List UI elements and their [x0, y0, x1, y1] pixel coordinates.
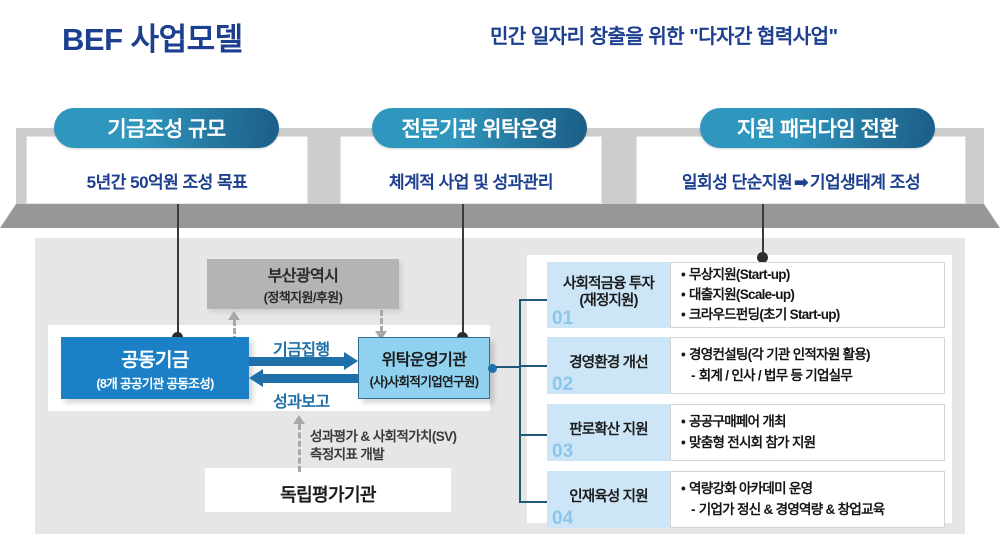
box-joint-fund: 공동기금 (8개 공공기관 공동조성) — [61, 337, 249, 399]
program-key-label-01: 사회적금융 투자 (재정지원) — [563, 276, 654, 315]
banner-pill-fund-scale: 기금조성 규모 — [54, 108, 279, 148]
banner-slab-front — [0, 204, 1000, 228]
bullet-dot-icon: • — [681, 414, 689, 429]
dashed-line-evaluator-to-operator — [298, 424, 301, 472]
program-key-label-02: 경영환경 개선 — [569, 355, 647, 376]
bullet-text: 역량강화 아카데미 운영 — [689, 481, 812, 496]
bullet-dot-icon: • — [681, 287, 689, 302]
program-key-04: 인재육성 지원 04 — [547, 471, 670, 528]
program-bullet: •무상지원(Start-up) — [681, 265, 936, 285]
program-key-03: 판로확산 지원 03 — [547, 404, 670, 461]
flow-arrow-backward — [263, 374, 358, 383]
connector-line-fund — [177, 204, 179, 338]
program-bullet: •역량강화 아카데미 운영 — [681, 479, 936, 499]
box-independent-evaluator-title: 독립평가기관 — [280, 481, 376, 507]
program-body-04: •역량강화 아카데미 운영 -기업가 정신 & 경영역량 & 창업교육 — [670, 471, 945, 528]
program-number-01: 01 — [552, 308, 573, 330]
program-bullet-sub: -기업가 정신 & 경영역량 & 창업교육 — [681, 500, 936, 520]
dashed-label-line1: 성과평가 & 사회적가치(SV) — [310, 428, 456, 446]
banner-pill-professional-operation: 전문기관 위탁운영 — [372, 108, 587, 148]
program-row-03[interactable]: 판로확산 지원 03 •공공구매페어 개최 •맞춤형 전시회 참가 지원 — [547, 404, 945, 461]
program-body-02: •경영컨설팅(각 기관 인적자원 활용) -회계 / 인사 / 법무 등 기업실… — [670, 337, 945, 394]
program-bullet: •크라우드펀딩(초기 Start-up) — [681, 305, 936, 325]
bullet-dot-icon: • — [681, 481, 689, 496]
paradigm-after: 기업생태계 조성 — [810, 173, 920, 192]
tree-stem — [496, 366, 520, 368]
tree-spine — [519, 299, 521, 503]
flow-arrow-forward — [249, 357, 344, 366]
dashed-arrowhead-up-evaluator — [293, 415, 305, 424]
tree-branch-04 — [519, 501, 548, 503]
tree-branch-02 — [519, 365, 548, 367]
box-operating-agency-title: 위탁운영기관 — [382, 346, 467, 370]
program-row-01[interactable]: 사회적금융 투자 (재정지원) 01 •무상지원(Start-up) •대출지원… — [547, 262, 945, 328]
paradigm-before: 일회성 단순지원 — [682, 173, 792, 192]
program-number-04: 04 — [552, 508, 573, 530]
program-body-03: •공공구매페어 개최 •맞춤형 전시회 참가 지원 — [670, 404, 945, 461]
program-key-line1: 판로확산 지원 — [569, 422, 647, 439]
program-row-02[interactable]: 경영환경 개선 02 •경영컨설팅(각 기관 인적자원 활용) -회계 / 인사… — [547, 337, 945, 394]
banner-panel-text: 5년간 50억원 조성 목표 — [87, 168, 248, 193]
program-key-line1: 사회적금융 투자 — [563, 276, 654, 293]
box-operating-agency-subtitle: (사)사회적기업연구원) — [370, 371, 479, 390]
program-bullet-sub: -회계 / 인사 / 법무 등 기업실무 — [681, 366, 936, 386]
right-arrow-icon: ➡ — [792, 173, 810, 192]
program-key-02: 경영환경 개선 02 — [547, 337, 670, 394]
program-bullet: •대출지원(Scale-up) — [681, 285, 936, 305]
dash-marker-icon: - — [691, 502, 699, 517]
flow-arrowhead-forward — [344, 352, 358, 370]
box-busan-city-title: 부산광역시 — [268, 262, 339, 286]
box-joint-fund-subtitle: (8개 공공기관 공동조성) — [96, 373, 213, 392]
page-subtitle: 민간 일자리 창출을 위한 "다자간 협력사업" — [490, 20, 838, 49]
program-key-line1: 경영환경 개선 — [569, 355, 647, 372]
dashed-label-line2: 측정지표 개발 — [310, 446, 456, 464]
bullet-text: 기업가 정신 & 경영역량 & 창업교육 — [699, 502, 885, 517]
bullet-text: 경영컨설팅(각 기관 인적자원 활용) — [689, 347, 870, 362]
tree-branch-03 — [519, 434, 548, 436]
box-joint-fund-title: 공동기금 — [121, 345, 189, 372]
connector-line-operator — [462, 204, 464, 338]
banner-panel-text: 체계적 사업 및 성과관리 — [389, 168, 553, 193]
program-row-04[interactable]: 인재육성 지원 04 •역량강화 아카데미 운영 -기업가 정신 & 경영역량 … — [547, 471, 945, 528]
box-busan-city: 부산광역시 (정책지원/후원) — [207, 259, 399, 309]
program-body-01: •무상지원(Start-up) •대출지원(Scale-up) •크라우드펀딩(… — [670, 262, 945, 328]
dashed-arrowhead-up-busan — [228, 311, 240, 320]
dash-marker-icon: - — [691, 368, 699, 383]
connector-line-program — [762, 204, 764, 258]
program-number-03: 03 — [552, 441, 573, 463]
program-bullet: •맞춤형 전시회 참가 지원 — [681, 433, 936, 453]
tree-branch-01 — [519, 299, 548, 301]
bullet-text: 크라우드펀딩(초기 Start-up) — [689, 307, 840, 322]
dashed-line-busan-to-operator — [380, 310, 383, 332]
bullet-dot-icon: • — [681, 307, 689, 322]
banner-pill-paradigm-shift: 지원 패러다임 전환 — [700, 108, 935, 148]
bullet-text: 대출지원(Scale-up) — [689, 287, 794, 302]
flow-label-performance-report: 성과보고 — [273, 388, 329, 412]
program-bullet: •경영컨설팅(각 기관 인적자원 활용) — [681, 345, 936, 365]
bullet-text: 맞춤형 전시회 참가 지원 — [689, 435, 815, 450]
program-key-label-04: 인재육성 지원 — [569, 489, 647, 510]
bullet-text: 무상지원(Start-up) — [689, 267, 790, 282]
program-key-line1: 인재육성 지원 — [569, 489, 647, 506]
box-busan-city-subtitle: (정책지원/후원) — [264, 287, 343, 306]
bullet-dot-icon: • — [681, 347, 689, 362]
flow-arrowhead-backward — [249, 369, 263, 387]
program-number-02: 02 — [552, 374, 573, 396]
bullet-dot-icon: • — [681, 267, 689, 282]
bullet-text: 회계 / 인사 / 법무 등 기업실무 — [699, 368, 852, 383]
dashed-label-evaluation: 성과평가 & 사회적가치(SV) 측정지표 개발 — [310, 428, 456, 464]
bullet-dot-icon: • — [681, 435, 689, 450]
program-bullet: •공공구매페어 개최 — [681, 412, 936, 432]
program-key-label-03: 판로확산 지원 — [569, 422, 647, 443]
banner-panel-text: 일회성 단순지원➡기업생태계 조성 — [682, 168, 920, 193]
program-key-line2: (재정지원) — [563, 293, 654, 310]
bullet-text: 공공구매페어 개최 — [689, 414, 786, 429]
diagram-canvas: BEF 사업모델 민간 일자리 창출을 위한 "다자간 협력사업" 5년간 50… — [0, 0, 1000, 548]
box-operating-agency: 위탁운영기관 (사)사회적기업연구원) — [358, 337, 490, 399]
program-key-01: 사회적금융 투자 (재정지원) 01 — [547, 262, 670, 328]
box-independent-evaluator: 독립평가기관 — [205, 476, 451, 512]
page-title: BEF 사업모델 — [62, 14, 243, 59]
